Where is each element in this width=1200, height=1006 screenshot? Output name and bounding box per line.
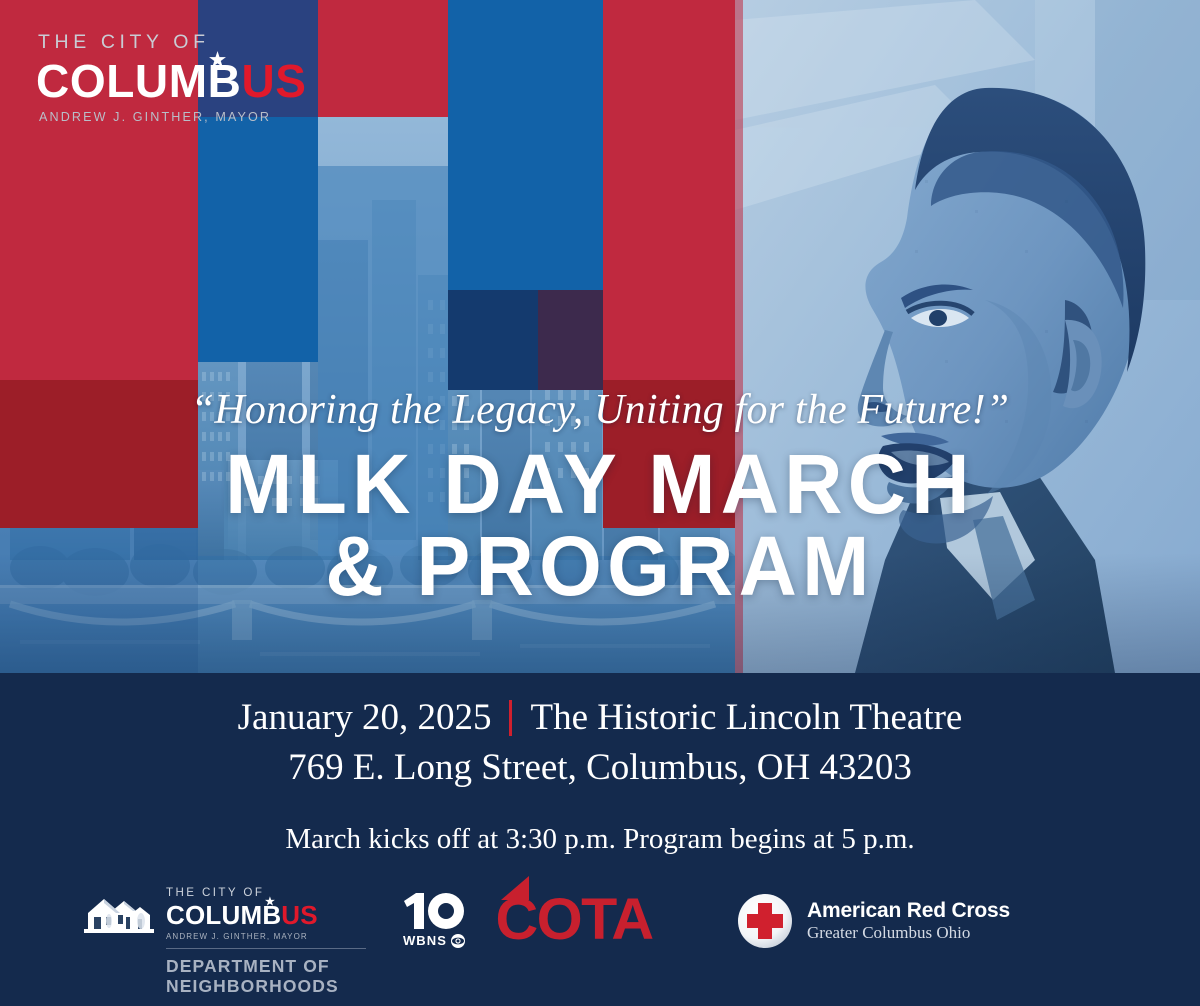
wbns-callsign-row: WBNS [398,933,470,948]
channel-10-icon [398,887,470,931]
event-date-venue-row: January 20, 2025 The Historic Lincoln Th… [0,695,1200,740]
event-date: January 20, 2025 [238,695,492,740]
dept-logo-mayor-line: ANDREW J. GINTHER, MAYOR [166,932,318,941]
logo-mayor-line: ANDREW J. GINTHER, MAYOR [39,110,304,124]
color-block-red-top-right [603,0,735,380]
red-divider [509,700,512,736]
sponsor-wbns-10: WBNS [398,887,470,948]
color-block-darknavy-mid [448,290,538,390]
footer-details-band: January 20, 2025 The Historic Lincoln Th… [0,673,1200,1006]
dept-logo-words: THE CITY OF COLUMBUS ★ ANDREW J. GINTHER… [166,885,318,941]
dept-division-line2: NEIGHBORHOODS [166,976,339,996]
hero-image-band: THE CITY OF COLUMBUS ★ ANDREW J. GINTHER… [0,0,1200,673]
headline-block: “Honoring the Legacy, Uniting for the Fu… [0,388,1200,608]
logo-wordmark-red: US [241,55,306,107]
wbns-callsign: WBNS [403,933,447,948]
color-block-blue-under-logo [198,117,318,362]
sponsor-cota: COTA [497,891,651,949]
mlk-day-event-flyer: THE CITY OF COLUMBUS ★ ANDREW J. GINTHER… [0,0,1200,1006]
red-cross-name: American Red Cross [807,899,1010,923]
event-details: January 20, 2025 The Historic Lincoln Th… [0,673,1200,856]
cota-wordmark: COTA [495,891,652,949]
dept-logo-wordmark: COLUMBUS ★ [166,901,318,929]
red-cross-icon [737,893,793,949]
logo-eyebrow: THE CITY OF [38,33,304,53]
dept-logo-top: THE CITY OF COLUMBUS ★ ANDREW J. GINTHER… [82,885,372,941]
dept-wordmark-red: US [281,900,318,930]
star-icon: ★ [265,897,275,909]
color-block-red-top-mid [318,0,448,117]
event-title: MLK DAY MARCH & PROGRAM [24,443,1176,607]
sponsor-logo-row: THE CITY OF COLUMBUS ★ ANDREW J. GINTHER… [0,885,1200,995]
color-block-blue-top-mid [448,0,603,290]
dept-divider [166,948,366,949]
dept-division-name: DEPARTMENT OF NEIGHBORHOODS [166,956,372,997]
cota-lockup: COTA [497,891,651,949]
city-of-columbus-logo: THE CITY OF COLUMBUS ★ ANDREW J. GINTHER… [36,33,304,124]
event-tagline: “Honoring the Legacy, Uniting for the Fu… [0,388,1200,433]
cbs-eye-icon [451,934,465,948]
event-venue: The Historic Lincoln Theatre [530,695,962,740]
color-block-purple-overlap [538,290,603,390]
event-title-line1: MLK DAY MARCH [225,437,975,531]
sponsor-american-red-cross: American Red Cross Greater Columbus Ohio [737,893,1010,949]
event-times: March kicks off at 3:30 p.m. Program beg… [0,823,1200,856]
red-cross-text: American Red Cross Greater Columbus Ohio [807,899,1010,944]
red-cross-chapter: Greater Columbus Ohio [807,923,1010,943]
event-title-line2: & PROGRAM [24,525,1176,608]
star-icon: ★ [209,51,227,70]
houses-icon [82,891,156,937]
logo-wordmark: COLUMBUS ★ [36,57,304,105]
dept-division-line1: DEPARTMENT OF [166,956,330,976]
sponsor-department-of-neighborhoods: THE CITY OF COLUMBUS ★ ANDREW J. GINTHER… [82,885,372,997]
dept-wordmark-white: COLUMB [166,900,281,930]
dept-logo-eyebrow: THE CITY OF [166,887,318,899]
event-address: 769 E. Long Street, Columbus, OH 43203 [0,743,1200,793]
